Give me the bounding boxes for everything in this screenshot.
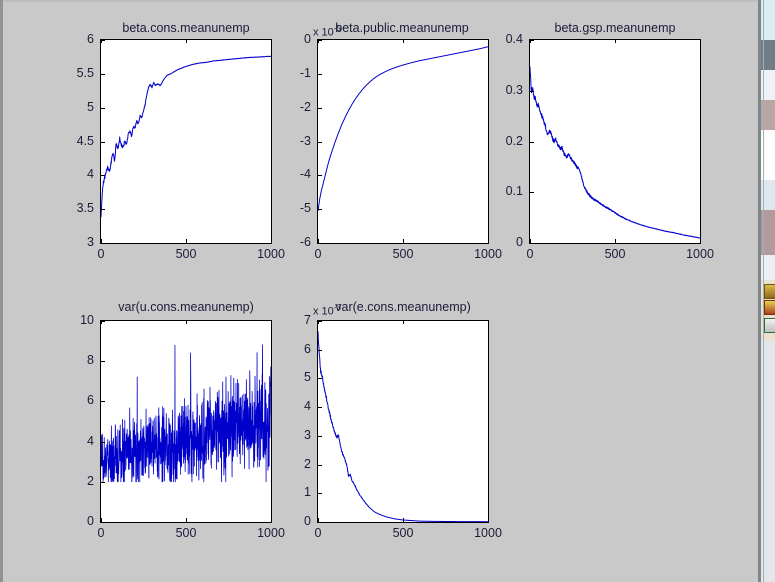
x-tick-mark — [403, 239, 404, 244]
x-tick-mark-top — [700, 39, 701, 43]
x-tick-mark — [101, 518, 102, 523]
y-tick-label: -3 — [271, 134, 311, 148]
x-tick-mark-top — [318, 320, 319, 324]
y-tick-label: 4 — [271, 399, 311, 413]
x-tick-label: 0 — [71, 526, 131, 540]
y-tick-label: 5.5 — [54, 66, 94, 80]
y-tick-label: -4 — [271, 167, 311, 181]
x-tick-mark — [530, 239, 531, 244]
x-tick-mark-top — [403, 39, 404, 43]
y-tick-label: 5 — [271, 370, 311, 384]
y-tick-mark — [529, 91, 534, 92]
y-tick-mark — [100, 401, 105, 402]
y-tick-mark — [100, 175, 105, 176]
tray-icon-1[interactable] — [764, 284, 775, 299]
x-tick-mark — [700, 239, 701, 244]
y-tick-mark — [317, 436, 322, 437]
x-tick-label: 0 — [288, 247, 348, 261]
x-tick-label: 500 — [585, 247, 645, 261]
y-tick-mark — [317, 350, 322, 351]
tray-icon-2[interactable] — [764, 300, 775, 315]
x-tick-mark-top — [318, 39, 319, 43]
y-tick-mark — [529, 192, 534, 193]
y-tick-label: 8 — [54, 353, 94, 367]
y-tick-label: 4 — [54, 434, 94, 448]
x-tick-mark-top — [530, 39, 531, 43]
x-tick-mark — [186, 239, 187, 244]
x-tick-label: 500 — [373, 247, 433, 261]
y-tick-mark — [317, 108, 322, 109]
subplot-title: var(e.cons.meanunemp) — [317, 300, 489, 314]
x-tick-mark-top — [186, 39, 187, 43]
x-tick-mark — [488, 518, 489, 523]
y-tick-mark — [317, 407, 322, 408]
x-tick-mark-top — [186, 320, 187, 324]
x-tick-mark — [186, 518, 187, 523]
subplot-title: beta.gsp.meanunemp — [529, 21, 701, 35]
y-tick-mark — [317, 142, 322, 143]
y-tick-label: 0.4 — [483, 32, 523, 46]
y-tick-mark — [317, 378, 322, 379]
y-tick-mark — [100, 482, 105, 483]
y-tick-mark — [100, 442, 105, 443]
y-tick-label: 6 — [54, 393, 94, 407]
x-tick-mark — [615, 239, 616, 244]
y-tick-label: 2 — [271, 457, 311, 471]
x-tick-mark-top — [101, 39, 102, 43]
y-tick-label: 5 — [54, 100, 94, 114]
x-tick-label: 500 — [156, 247, 216, 261]
y-tick-mark — [317, 209, 322, 210]
y-tick-label: 6 — [271, 342, 311, 356]
y-tick-label: 0.3 — [483, 83, 523, 97]
x-tick-mark — [403, 518, 404, 523]
y-tick-label: 0 — [271, 32, 311, 46]
y-tick-mark — [317, 493, 322, 494]
x-tick-label: 0 — [71, 247, 131, 261]
plot-area[interactable] — [529, 39, 701, 244]
y-tick-label: 10 — [54, 313, 94, 327]
y-tick-label: 3 — [271, 428, 311, 442]
x-tick-mark-top — [615, 39, 616, 43]
x-tick-label: 0 — [500, 247, 560, 261]
y-tick-label: -1 — [271, 66, 311, 80]
y-tick-mark — [100, 74, 105, 75]
y-tick-label: 4.5 — [54, 134, 94, 148]
plot-area[interactable] — [317, 320, 489, 523]
y-tick-mark — [100, 361, 105, 362]
x-tick-label: 1000 — [458, 526, 518, 540]
y-tick-label: 0.2 — [483, 134, 523, 148]
y-tick-label: -2 — [271, 100, 311, 114]
x-tick-label: 1000 — [670, 247, 730, 261]
x-tick-label: 500 — [373, 526, 433, 540]
y-tick-label: 0.1 — [483, 184, 523, 198]
y-tick-mark — [317, 175, 322, 176]
x-tick-mark — [318, 239, 319, 244]
figure-window: beta.cons.meanunemp x 10-5 beta.public.m… — [0, 0, 775, 582]
x-tick-mark-top — [488, 320, 489, 324]
x-tick-mark-top — [403, 320, 404, 324]
y-tick-mark — [529, 142, 534, 143]
y-tick-label: 7 — [271, 313, 311, 327]
x-tick-mark — [318, 518, 319, 523]
subplot-var-e-cons-meanunemp[interactable]: x 10-3 var(e.cons.meanunemp) — [0, 0, 520, 582]
tray-icon-3[interactable] — [764, 318, 775, 333]
y-tick-mark — [317, 74, 322, 75]
y-tick-mark — [100, 142, 105, 143]
y-tick-label: -5 — [271, 201, 311, 215]
y-tick-label: 4 — [54, 167, 94, 181]
x-tick-mark — [101, 239, 102, 244]
x-tick-label: 0 — [288, 526, 348, 540]
y-tick-label: 2 — [54, 474, 94, 488]
y-tick-mark — [100, 108, 105, 109]
x-tick-label: 500 — [156, 526, 216, 540]
window-right-divider — [758, 0, 761, 582]
x-tick-mark-top — [101, 320, 102, 324]
y-tick-mark — [100, 209, 105, 210]
y-tick-label: 6 — [54, 32, 94, 46]
y-tick-label: 3.5 — [54, 201, 94, 215]
y-tick-label: 1 — [271, 485, 311, 499]
y-tick-mark — [317, 465, 322, 466]
